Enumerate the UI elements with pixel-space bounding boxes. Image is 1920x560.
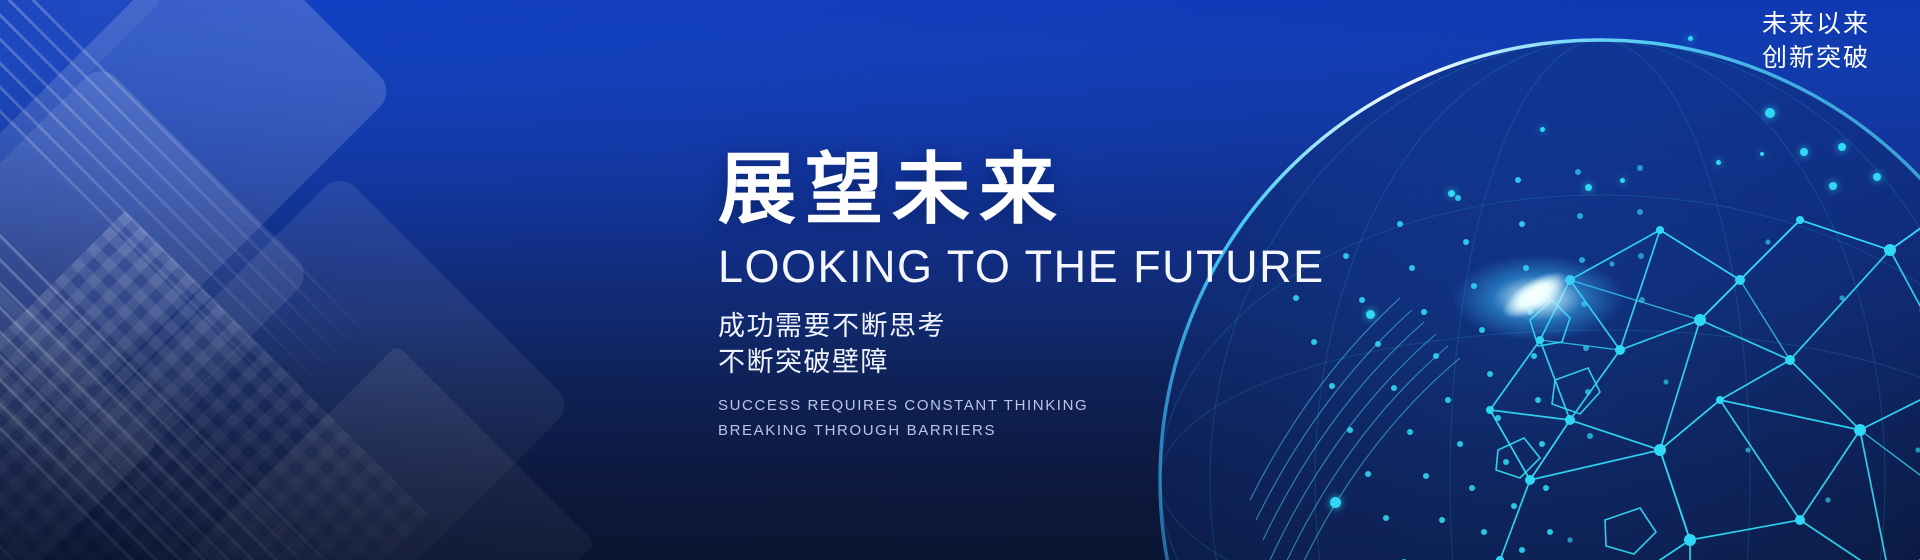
deco-panel-5 bbox=[185, 345, 595, 560]
line-group-1 bbox=[0, 0, 361, 410]
deco-panel-6 bbox=[0, 0, 162, 212]
spark-dot bbox=[1716, 160, 1721, 165]
spark-dot bbox=[1829, 182, 1837, 190]
deco-panel-4 bbox=[0, 282, 158, 560]
spark-dot bbox=[1330, 497, 1341, 508]
spark-dot bbox=[1765, 108, 1775, 118]
deco-panel-3 bbox=[57, 172, 573, 560]
diamond-dot-grid bbox=[0, 211, 429, 560]
subtitle-cn-line-2: 不断突破壁障 bbox=[718, 345, 1338, 381]
line-group-3 bbox=[0, 135, 85, 560]
page-title-en: LOOKING TO THE FUTURE bbox=[718, 244, 1338, 289]
diagonal-line-bundles bbox=[0, 0, 693, 560]
spark-dot bbox=[1620, 178, 1625, 183]
spark-dot bbox=[1366, 310, 1375, 319]
corner-tagline-line-2: 创新突破 bbox=[1762, 42, 1870, 76]
subtitle-cn-line-1: 成功需要不断思考 bbox=[718, 309, 1338, 345]
spark-dot bbox=[1585, 184, 1592, 191]
spark-dot bbox=[1448, 190, 1455, 197]
spark-dot bbox=[1760, 152, 1764, 156]
corner-tagline-line-1: 未来以来 bbox=[1762, 8, 1870, 42]
deco-panel-1 bbox=[0, 0, 395, 395]
promo-banner: 展望未来 LOOKING TO THE FUTURE 成功需要不断思考 不断突破… bbox=[0, 0, 1920, 560]
subtitle-en-line-2: BREAKING THROUGH BARRIERS bbox=[718, 419, 1338, 443]
headline-block: 展望未来 LOOKING TO THE FUTURE 成功需要不断思考 不断突破… bbox=[718, 150, 1338, 443]
spark-dot bbox=[1873, 173, 1881, 181]
corner-tagline: 未来以来 创新突破 bbox=[1762, 8, 1870, 75]
subtitle-en-block: SUCCESS REQUIRES CONSTANT THINKING BREAK… bbox=[718, 394, 1338, 443]
spark-dot bbox=[1540, 127, 1545, 132]
spark-dot bbox=[1688, 36, 1693, 41]
subtitle-en-line-1: SUCCESS REQUIRES CONSTANT THINKING bbox=[718, 394, 1338, 418]
deco-panel-2 bbox=[0, 62, 313, 507]
line-group-4 bbox=[0, 425, 92, 560]
spark-dot bbox=[1800, 148, 1808, 156]
spark-dot bbox=[1838, 143, 1846, 151]
line-group-2 bbox=[0, 99, 403, 560]
page-title-cn: 展望未来 bbox=[718, 150, 1338, 228]
